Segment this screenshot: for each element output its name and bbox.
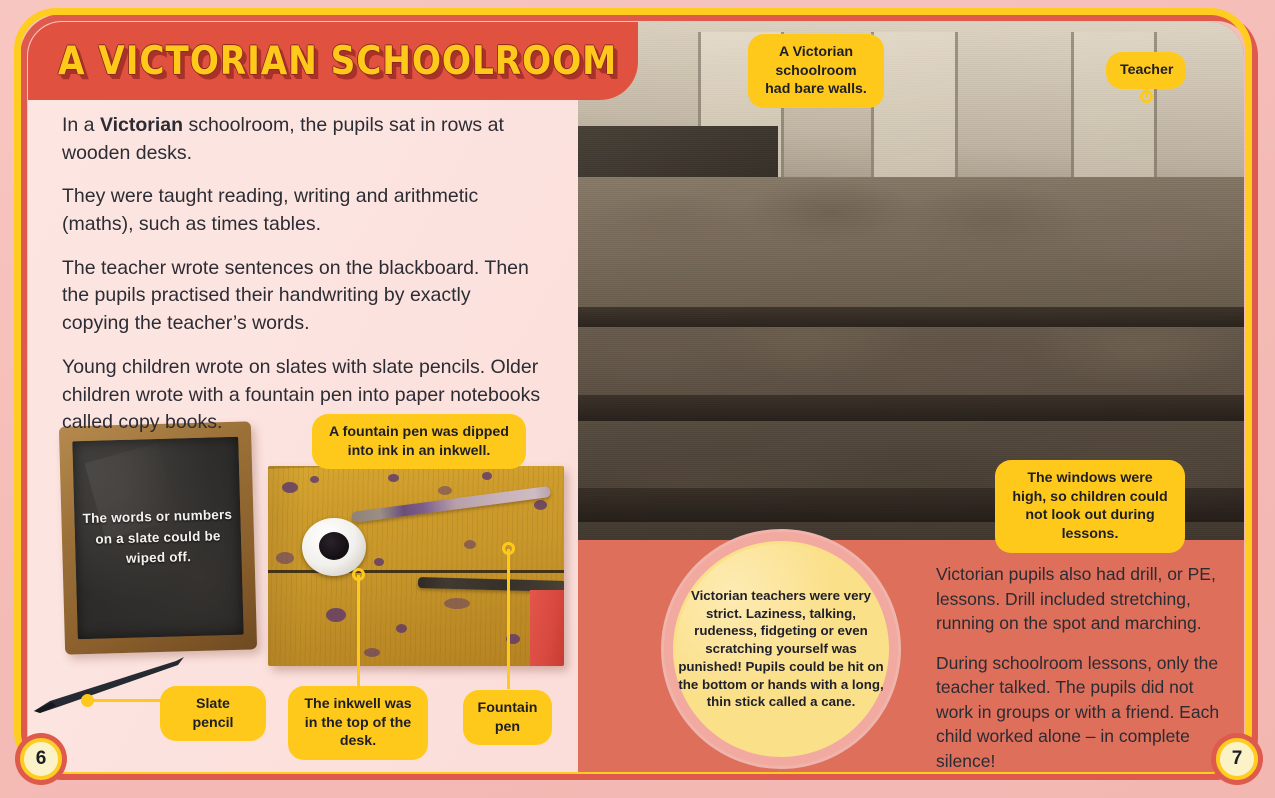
ink-stain [310, 476, 319, 483]
ink-stain [388, 474, 399, 482]
callout-fountain-pen: Fountain pen [463, 690, 552, 745]
page-title-banner: A VICTORIAN SCHOOLROOM [28, 22, 638, 100]
left-paragraph: In a Victorian schoolroom, the pupils sa… [62, 112, 542, 167]
leader-line-fountain-pen [507, 549, 510, 689]
callout-teacher: Teacher [1106, 52, 1186, 89]
callout-fountain-pen-dipped: A fountain pen was dipped into ink in an… [312, 414, 526, 469]
ink-stain [364, 648, 380, 657]
callout-slate-pencil: Slate pencil [160, 686, 266, 741]
book-spread: The words or numbers on a slate could be… [0, 0, 1275, 798]
left-paragraph: They were taught reading, writing and ar… [62, 183, 542, 238]
ink-stain [282, 482, 298, 493]
left-paragraph: The teacher wrote sentences on the black… [62, 255, 542, 338]
callout-windows-high: The windows were high, so children could… [995, 460, 1185, 553]
ink-stain [396, 624, 407, 633]
callout-bare-walls: A Victorian schoolroom had bare walls. [748, 34, 884, 108]
page-number-right: 7 [1216, 738, 1258, 780]
leader-dot-teacher [1140, 90, 1153, 103]
ink-stain [326, 608, 346, 622]
leader-line-slate-pencil [88, 699, 166, 702]
leader-dot-fountain-pen [502, 542, 515, 555]
desk-seam [268, 570, 564, 573]
right-column-text: Victorian pupils also had drill, or PE, … [936, 562, 1232, 772]
ink-stain [438, 486, 452, 495]
fact-bubble: Victorian teachers were very strict. Laz… [664, 532, 898, 766]
ink-stain [276, 552, 294, 564]
leader-dot-inkwell [352, 568, 365, 581]
slate-surface: The words or numbers on a slate could be… [72, 437, 243, 640]
desk-inkwell-image [268, 466, 564, 666]
slate-caption: The words or numbers on a slate could be… [74, 505, 242, 571]
red-book-edge [530, 590, 564, 666]
ink-stain [482, 472, 492, 480]
ink-stain [374, 558, 384, 566]
left-column-text: In a Victorian schoolroom, the pupils sa… [62, 112, 542, 453]
leader-line-inkwell [357, 575, 360, 689]
ink-stain [464, 540, 476, 549]
page-title: A VICTORIAN SCHOOLROOM [58, 39, 617, 84]
leader-dot-slate-pencil [81, 694, 94, 707]
right-paragraph: During schoolroom lessons, only the teac… [936, 651, 1232, 773]
slate-image: The words or numbers on a slate could be… [59, 421, 257, 654]
inkwell-hole [319, 532, 349, 560]
ink-stain [444, 598, 470, 609]
callout-inkwell-desk: The inkwell was in the top of the desk. [288, 686, 428, 760]
right-paragraph: Victorian pupils also had drill, or PE, … [936, 562, 1232, 636]
page-number-left: 6 [20, 738, 62, 780]
ink-stain [534, 500, 547, 510]
fact-bubble-text: Victorian teachers were very strict. Laz… [677, 587, 885, 711]
